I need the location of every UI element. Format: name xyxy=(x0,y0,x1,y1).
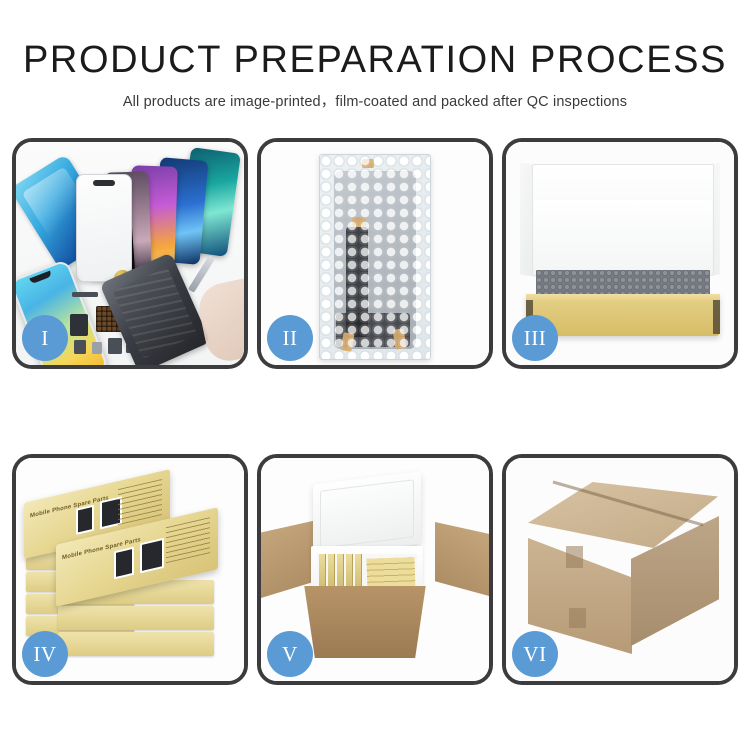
bubble-wrap-bag xyxy=(319,154,431,360)
carton-tape-patch xyxy=(569,608,586,628)
step-badge-6: VI xyxy=(512,631,558,677)
carton-body xyxy=(299,586,431,658)
step-panel-4: Mobile Phone Spare Parts Mobile Phone Sp… xyxy=(12,454,248,685)
box-label: Mobile Phone Spare Parts xyxy=(30,495,109,519)
process-steps-grid: I II xyxy=(12,138,738,694)
header: PRODUCT PREPARATION PROCESS All products… xyxy=(0,0,750,112)
step-badge-2: II xyxy=(267,315,313,361)
bubble-texture xyxy=(320,155,430,359)
step-badge-4: IV xyxy=(22,631,68,677)
step-panel-6: VI xyxy=(502,454,738,685)
carton-tape-patch xyxy=(566,546,583,568)
step-panel-2: II xyxy=(257,138,493,369)
part-icon xyxy=(74,340,86,354)
step-panel-1: I xyxy=(12,138,248,369)
box-window xyxy=(140,538,164,574)
part-icon xyxy=(92,342,102,354)
step-badge-1: I xyxy=(22,315,68,361)
page-title: PRODUCT PREPARATION PROCESS xyxy=(0,38,750,82)
stacked-box xyxy=(58,632,214,656)
box-spec-text xyxy=(118,479,162,525)
page-subtitle: All products are image-printed，film-coat… xyxy=(0,92,750,112)
product-preparation-process-infographic: PRODUCT PREPARATION PROCESS All products… xyxy=(0,0,750,750)
step-panel-5: V xyxy=(257,454,493,685)
step-badge-3: III xyxy=(512,315,558,361)
carton-flap-right xyxy=(435,522,489,596)
part-icon xyxy=(72,292,98,297)
styrofoam-lid xyxy=(313,471,421,556)
flex-cable-icon xyxy=(70,314,88,336)
box-window xyxy=(114,547,134,580)
part-icon xyxy=(108,338,122,354)
box-window xyxy=(76,505,94,535)
step-panel-3: III xyxy=(502,138,738,369)
stacked-box xyxy=(58,606,214,630)
tempered-glass-panel xyxy=(76,174,132,282)
box-spec-text xyxy=(166,517,210,563)
white-foam-sheet xyxy=(534,200,712,270)
step-badge-5: V xyxy=(267,631,313,677)
box-corner xyxy=(713,300,720,334)
